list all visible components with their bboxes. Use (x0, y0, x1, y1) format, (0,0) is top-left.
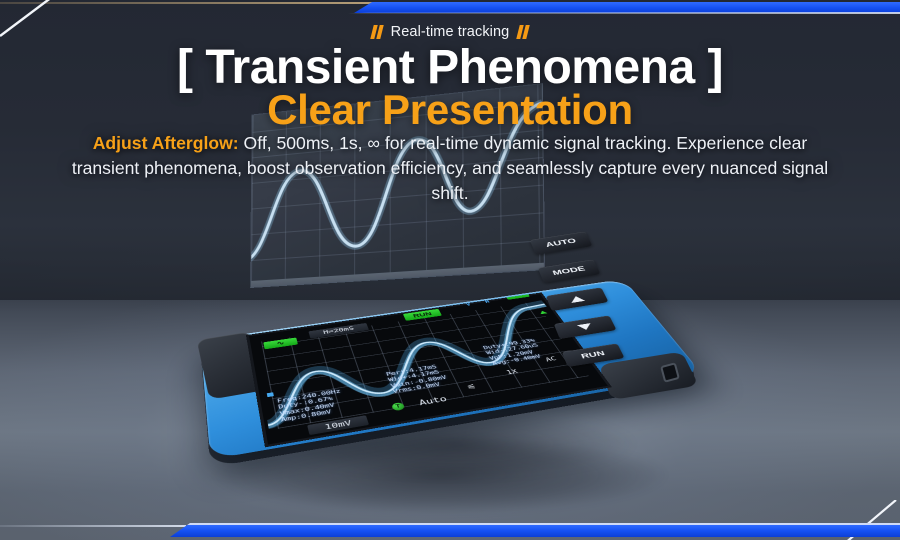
eyebrow: Real-time tracking (0, 24, 900, 40)
chevron-down-icon (577, 323, 593, 331)
mode-button[interactable]: MODE (538, 259, 601, 283)
description-paragraph: Adjust Afterglow: Off, 500ms, 1s, ∞ for … (58, 131, 842, 206)
bottom-blue-bar (170, 523, 900, 537)
page-subtitle: Clear Presentation (0, 86, 900, 134)
auto-button[interactable]: AUTO (530, 231, 593, 255)
slash-bars-left-icon (370, 25, 383, 39)
eyebrow-label: Real-time tracking (391, 24, 510, 40)
bottom-hairline (0, 525, 186, 527)
chevron-up-icon (569, 295, 585, 303)
description-lead: Adjust Afterglow: (93, 133, 239, 153)
run-button[interactable]: RUN (562, 343, 625, 367)
button-column: AUTO MODE RUN (526, 228, 726, 428)
down-button[interactable] (554, 315, 617, 339)
oscilloscope-device: ∿ H=20mS RUN V H Freq:240.00Hz Duty-:0.6… (196, 228, 716, 488)
banner-stage: Real-time tracking [ Transient Phenomena… (0, 0, 900, 540)
top-blue-bar (354, 2, 900, 13)
slash-bars-right-icon (517, 25, 530, 39)
up-button[interactable] (546, 287, 609, 311)
top-blue-bar-edge (348, 12, 900, 14)
